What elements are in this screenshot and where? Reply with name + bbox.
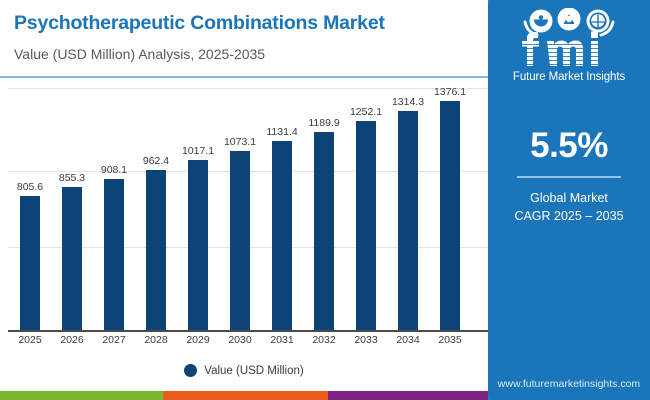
bar-label-2035: 1376.1	[422, 86, 478, 98]
cagr-value: 5.5%	[488, 128, 650, 163]
bar-2035[interactable]	[440, 101, 460, 330]
plot-area: 805.6855.3908.1962.41017.11073.11131.411…	[0, 78, 488, 332]
chart-legend: Value (USD Million)	[0, 364, 488, 377]
bar-2030[interactable]	[230, 151, 250, 330]
bar-2025[interactable]	[20, 196, 40, 330]
chart-panel: Psychotherapeutic Combinations Market Va…	[0, 0, 488, 400]
bar-2029[interactable]	[188, 160, 208, 330]
cagr-callout: 5.5% Global Market CAGR 2025 – 2035	[488, 128, 650, 225]
chart-infographic: Psychotherapeutic Combinations Market Va…	[0, 0, 650, 400]
cagr-caption-line2: CAGR 2025 – 2035	[488, 207, 650, 225]
x-tick-2035: 2035	[422, 334, 478, 346]
bar-2032[interactable]	[314, 132, 334, 330]
bar-label-2032: 1189.9	[296, 117, 352, 129]
gridline-1500	[8, 88, 488, 89]
circle-marker-icon	[184, 364, 197, 377]
bar-2034[interactable]	[398, 111, 418, 330]
brand-panel: Future Market Insights 5.5% Global Marke…	[488, 0, 650, 400]
bottom-color-strip	[0, 391, 488, 400]
x-axis-line	[8, 330, 488, 332]
cagr-caption-line1: Global Market	[488, 189, 650, 207]
bar-2033[interactable]	[356, 121, 376, 330]
x-axis-labels: 2025202620272028202920302031203220332034…	[0, 334, 488, 354]
strip-segment-green	[0, 391, 163, 400]
brand-tagline: Future Market Insights	[488, 71, 650, 83]
fmi-logo-icon	[503, 8, 635, 70]
cagr-divider	[517, 176, 621, 178]
bar-label-2034: 1314.3	[380, 96, 436, 108]
page-title: Psychotherapeutic Combinations Market	[14, 12, 385, 35]
bar-2031[interactable]	[272, 141, 292, 330]
page-subtitle: Value (USD Million) Analysis, 2025-2035	[14, 46, 265, 62]
strip-segment-orange	[163, 391, 328, 400]
website-url[interactable]: www.futuremarketinsights.com	[488, 378, 650, 390]
bar-2026[interactable]	[62, 187, 82, 330]
legend-label: Value (USD Million)	[204, 365, 303, 377]
strip-segment-purple	[328, 391, 488, 400]
bar-2028[interactable]	[146, 170, 166, 330]
bar-label-2033: 1252.1	[338, 106, 394, 118]
fmi-logo: Future Market Insights	[488, 8, 650, 83]
bar-2027[interactable]	[104, 179, 124, 330]
